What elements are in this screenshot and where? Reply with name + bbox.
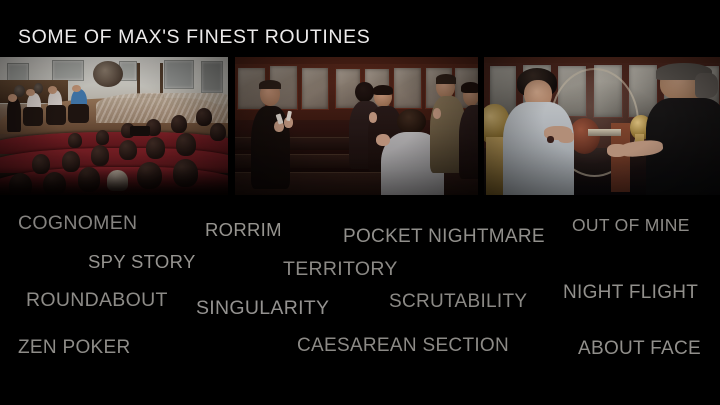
photo-strip bbox=[0, 57, 720, 195]
routine-item-spy-story: SPY STORY bbox=[88, 251, 196, 273]
photo-panel-apparatus-demonstration bbox=[484, 57, 720, 195]
routine-item-about-face: ABOUT FACE bbox=[578, 338, 701, 360]
routine-list: COGNOMEN RORRIM POCKET NIGHTMARE OUT OF … bbox=[0, 195, 720, 405]
routine-item-caesarean-section: CAESAREAN SECTION bbox=[297, 335, 509, 357]
routine-item-pocket-nightmare: POCKET NIGHTMARE bbox=[343, 226, 545, 248]
routine-item-rorrim: RORRIM bbox=[205, 219, 282, 241]
presentation-slide: SOME OF MAX'S FINEST ROUTINES bbox=[0, 0, 720, 405]
photo-content-3 bbox=[484, 57, 720, 195]
photo-panel-close-up-card-performance bbox=[235, 57, 478, 195]
routine-item-territory: TERRITORY bbox=[283, 258, 398, 281]
routine-item-night-flight: NIGHT FLIGHT bbox=[563, 282, 698, 304]
routine-item-roundabout: ROUNDABOUT bbox=[26, 289, 168, 312]
photo-content-1 bbox=[0, 57, 228, 195]
routine-item-scrutability: SCRUTABILITY bbox=[389, 291, 527, 313]
photo-panel-lecture-theatre-audience bbox=[0, 57, 228, 195]
routine-item-out-of-mine: OUT OF MINE bbox=[572, 215, 690, 236]
routine-item-singularity: SINGULARITY bbox=[196, 297, 329, 320]
photo-content-2 bbox=[235, 57, 478, 195]
routine-item-cognomen: COGNOMEN bbox=[18, 212, 137, 235]
routine-item-zen-poker: ZEN POKER bbox=[18, 337, 131, 359]
title-bar: SOME OF MAX'S FINEST ROUTINES bbox=[0, 0, 720, 57]
page-title: SOME OF MAX'S FINEST ROUTINES bbox=[18, 26, 370, 48]
